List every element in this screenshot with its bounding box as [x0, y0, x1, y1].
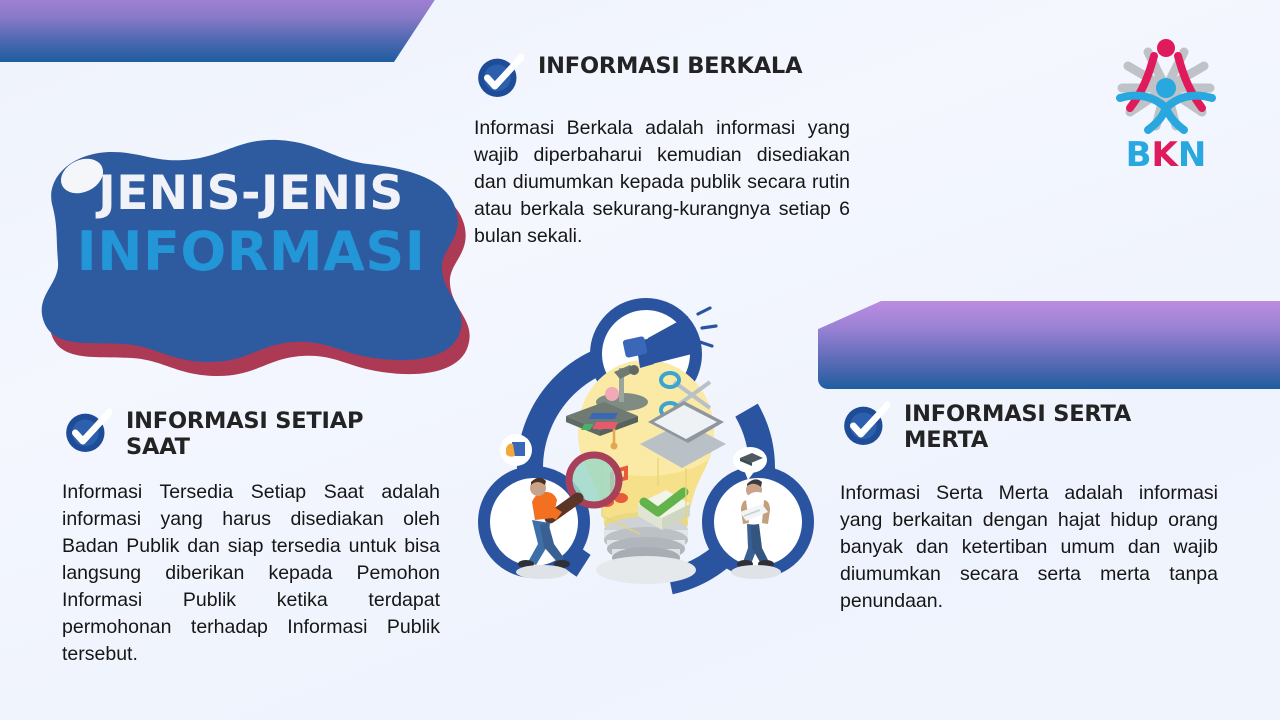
title-card-blob — [16, 130, 486, 370]
section-informasi-serta-merta: INFORMASI SERTA MERTA Informasi Serta Me… — [840, 398, 1222, 615]
section-body: Informasi Tersedia Setiap Saat adalah in… — [62, 479, 440, 668]
check-circle-icon — [62, 407, 112, 457]
infographic-canvas: JENIS-JENIS INFORMASI INFORMASI BERKALA … — [0, 0, 1280, 720]
section-body: Informasi Serta Merta adalah informasi y… — [840, 480, 1218, 615]
check-circle-icon — [840, 400, 890, 450]
bkn-letter-k: K — [1152, 135, 1178, 175]
bkn-logo-mark — [1104, 26, 1228, 138]
title-card: JENIS-JENIS INFORMASI — [16, 130, 486, 370]
section-header: INFORMASI SETIAP SAAT — [62, 405, 447, 461]
bkn-letter-n: N — [1178, 135, 1206, 175]
bkn-wordmark: BKN — [1104, 138, 1228, 172]
check-circle-icon — [474, 52, 524, 102]
section-body: Informasi Berkala adalah informasi yang … — [474, 115, 850, 250]
section-informasi-berkala: INFORMASI BERKALA Informasi Berkala adal… — [474, 50, 854, 250]
lightbulb-knowledge-illustration — [462, 272, 830, 644]
top-left-gradient-banner — [0, 0, 440, 62]
section-header: INFORMASI SERTA MERTA — [840, 398, 1222, 454]
section-header: INFORMASI BERKALA — [474, 50, 854, 100]
bkn-logo: BKN — [1104, 26, 1228, 184]
bkn-letter-b: B — [1126, 135, 1152, 175]
section-title: INFORMASI SETIAP SAAT — [126, 408, 363, 461]
logo-pink-head — [1157, 39, 1175, 57]
section-title: INFORMASI SERTA MERTA — [904, 401, 1131, 454]
right-gradient-banner — [818, 301, 1280, 389]
section-title: INFORMASI BERKALA — [538, 53, 802, 79]
logo-blue-head — [1156, 78, 1176, 98]
section-informasi-setiap-saat: INFORMASI SETIAP SAAT Informasi Tersedia… — [62, 405, 447, 668]
